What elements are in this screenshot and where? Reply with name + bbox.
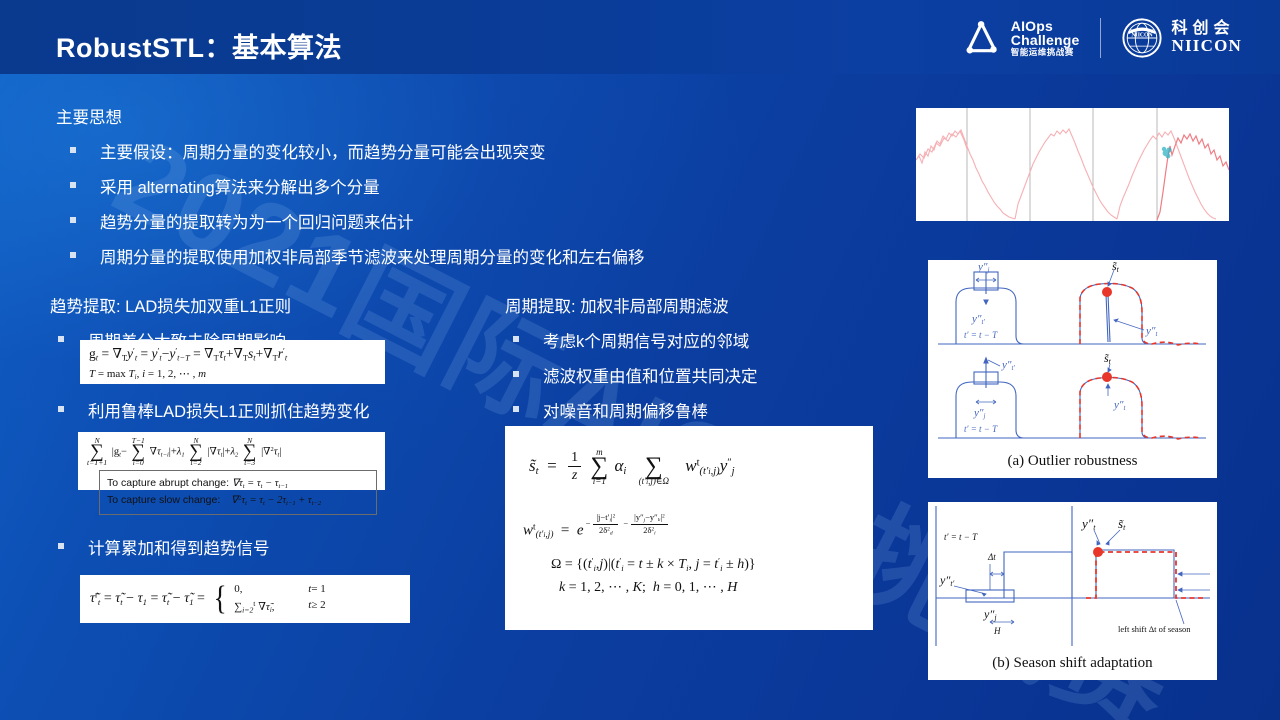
formula-lad-sum: N∑t=T+1 |gt− T−1∑i=0 ∇τt−i|+λ1 N∑t=2 |∇τ…	[85, 437, 378, 467]
intro-bullet-0: 主要假设：周期分量的变化较小，而趋势分量可能会出现突变	[100, 144, 546, 162]
slide-header: RobustSTL：基本算法 AI	[0, 0, 1280, 74]
aiops-logo-text: AIOps Challenge 智能运维挑战赛	[1011, 19, 1080, 57]
niicon-logo: NIICON 科创会 NIICON	[1121, 17, 1243, 59]
list-item: 利用鲁棒LAD损失L1正则抓住趋势变化	[50, 398, 470, 422]
trend-bullet-1: 利用鲁棒LAD损失L1正则抓住趋势变化	[88, 403, 369, 421]
outlier-svg: y″j y″t′ t′ = t − T s̃t y″t	[928, 260, 1217, 450]
aiops-line2: Challenge	[1011, 33, 1080, 47]
formula-s-tilde: s̃t = 1z m∑i=1 αi ∑(t′i,j)∈Ω wt(t′i,j)y″…	[529, 448, 857, 486]
list-item: 对噪音和周期偏移鲁棒	[505, 398, 905, 422]
trend-bullet-list-3: 计算累加和得到趋势信号	[50, 535, 470, 559]
trend-heading: 趋势提取: LAD损失加双重L1正则	[50, 293, 470, 317]
intro-heading: 主要思想	[56, 104, 886, 128]
note-abrupt-label: To capture abrupt change:	[107, 477, 229, 489]
season-shift-point	[1093, 547, 1103, 557]
formula-box-trend-cumsum: τ̃rt = τ̃t − τ1 = τ̃t − τ̃1 = { 0,t = 1 …	[80, 575, 410, 623]
list-item: 计算累加和得到趋势信号	[50, 535, 470, 559]
note-slow: To capture slow change: ∇2τt = τt − 2τt−…	[107, 492, 369, 509]
bullet-square-icon	[70, 217, 76, 223]
timeseries-svg	[916, 108, 1229, 221]
formula-tau-r: τ̃rt = τ̃t − τ1 = τ̃t − τ̃1 = { 0,t = 1 …	[90, 582, 326, 616]
niicon-english: NIICON	[1172, 37, 1243, 55]
bullet-square-icon	[58, 543, 64, 549]
formula-box-lad-objective: N∑t=T+1 |gt− T−1∑i=0 ∇τt−i|+λ1 N∑t=2 |∇τ…	[78, 432, 385, 490]
note-abrupt: To capture abrupt change: ∇τt = τt − τt−…	[107, 475, 369, 492]
intro-block: 主要思想 主要假设：周期分量的变化较小，而趋势分量可能会出现突变 采用 alte…	[56, 104, 886, 268]
list-item: 趋势分量的提取转为为一个回归问题来估计	[56, 209, 886, 233]
figure-outlier-robustness: y″j y″t′ t′ = t − T s̃t y″t	[928, 260, 1217, 478]
niicon-logo-text: 科创会 NIICON	[1172, 21, 1243, 56]
formula-k-h-range: k = 1, 2, ⋯ , K; h = 0, 1, ⋯ , H	[559, 577, 857, 598]
bullet-square-icon	[58, 406, 64, 412]
figure-a-caption: (a) Outlier robustness	[928, 453, 1217, 470]
note-slow-label: To capture slow change:	[107, 494, 220, 506]
slide-canvas: 2021国际AIOps挑战赛 RobustSTL：基本算法	[0, 0, 1280, 720]
formula-T-def: T = max Ti, i = 1, 2, ⋯ , m	[89, 367, 376, 383]
formula-box-seasonal-difference: gt = ∇Ty′t = y′t−y′t−T = ∇Tτt+∇Tst+∇Tr′t…	[80, 340, 385, 384]
intro-bullet-3: 周期分量的提取使用加权非局部季节滤波来处理周期分量的变化和左右偏移	[100, 249, 645, 267]
outlier-point-upper	[1102, 287, 1112, 297]
season-shift-svg: t′ = t − T Δt H y″t′ y″j	[928, 502, 1217, 650]
figure-season-shift: t′ = t − T Δt H y″t′ y″j	[928, 502, 1217, 680]
page-title: RobustSTL：基本算法	[56, 26, 342, 65]
bullet-square-icon	[70, 252, 76, 258]
list-item: 采用 alternating算法来分解出多个分量	[56, 174, 886, 198]
season-bullet-list: 考虑k个周期信号对应的邻域 滤波权重由值和位置共同决定 对噪音和周期偏移鲁棒	[505, 328, 905, 422]
label-tprime-def-lower: t′ = t − T	[964, 424, 998, 434]
intro-bullet-2: 趋势分量的提取转为为一个回归问题来估计	[100, 214, 414, 232]
aiops-line3: 智能运维挑战赛	[1011, 48, 1080, 57]
formula-gt: gt = ∇Ty′t = y′t−y′t−T = ∇Tτt+∇Tst+∇Tr′t	[89, 346, 376, 364]
bullet-square-icon	[513, 406, 519, 412]
label-tprime-def-b: t′ = t − T	[944, 532, 978, 542]
intro-bullet-1: 采用 alternating算法来分解出多个分量	[100, 179, 380, 197]
logo-divider	[1100, 18, 1101, 58]
logo-group: AIOps Challenge 智能运维挑战赛 N	[962, 16, 1242, 60]
trend-bullet-2: 计算累加和得到趋势信号	[88, 540, 270, 558]
list-item: 滤波权重由值和位置共同决定	[505, 363, 905, 387]
seasonal-timeseries-plot	[916, 108, 1229, 221]
season-bullet-0: 考虑k个周期信号对应的邻域	[543, 333, 749, 351]
list-item: 考虑k个周期信号对应的邻域	[505, 328, 905, 352]
label-delta-t: Δt	[987, 552, 996, 562]
label-tprime-def: t′ = t − T	[964, 330, 998, 340]
aiops-logo: AIOps Challenge 智能运维挑战赛	[962, 18, 1080, 58]
outlier-point-lower	[1102, 372, 1112, 382]
bullet-square-icon	[70, 147, 76, 153]
bullet-square-icon	[70, 182, 76, 188]
figure-b-caption: (b) Season shift adaptation	[928, 655, 1217, 672]
trend-bullet-list-2: 利用鲁棒LAD损失L1正则抓住趋势变化	[50, 398, 470, 422]
formula-box-seasonal-filter: s̃t = 1z m∑i=1 αi ∑(t′i,j)∈Ω wt(t′i,j)y″…	[505, 426, 873, 630]
season-bullet-2: 对噪音和周期偏移鲁棒	[543, 403, 708, 421]
formula-omega: Ω = {(t′i,j)|(t′i = t ± k × Ti, j = t′i …	[551, 554, 857, 575]
bullet-square-icon	[58, 336, 64, 342]
list-item: 周期分量的提取使用加权非局部季节滤波来处理周期分量的变化和左右偏移	[56, 244, 886, 268]
formula-change-notes: To capture abrupt change: ∇τt = τt − τt−…	[99, 470, 377, 516]
aiops-line1: AIOps	[1011, 19, 1080, 33]
formula-weight: wt(t′i,j) = e −|j−t′i|22δ2d −|y″j−y″ti|2…	[523, 512, 857, 541]
aiops-triangle-icon	[962, 18, 1002, 58]
niicon-globe-icon: NIICON	[1121, 17, 1163, 59]
intro-bullet-list: 主要假设：周期分量的变化较小，而趋势分量可能会出现突变 采用 alternati…	[56, 139, 886, 268]
bullet-square-icon	[513, 371, 519, 377]
niicon-chinese: 科创会	[1172, 21, 1243, 38]
season-block: 周期提取: 加权非局部周期滤波 考虑k个周期信号对应的邻域 滤波权重由值和位置共…	[505, 293, 905, 422]
season-bullet-1: 滤波权重由值和位置共同决定	[543, 368, 758, 386]
label-left-shift: left shift Δt of season	[1118, 624, 1191, 634]
list-item: 主要假设：周期分量的变化较小，而趋势分量可能会出现突变	[56, 139, 886, 163]
trend-block-2: 利用鲁棒LAD损失L1正则抓住趋势变化	[50, 398, 470, 422]
season-heading: 周期提取: 加权非局部周期滤波	[505, 293, 905, 317]
label-H: H	[993, 626, 1001, 636]
trend-block-3: 计算累加和得到趋势信号	[50, 535, 470, 559]
bullet-square-icon	[513, 336, 519, 342]
svg-text:NIICON: NIICON	[1131, 33, 1153, 39]
